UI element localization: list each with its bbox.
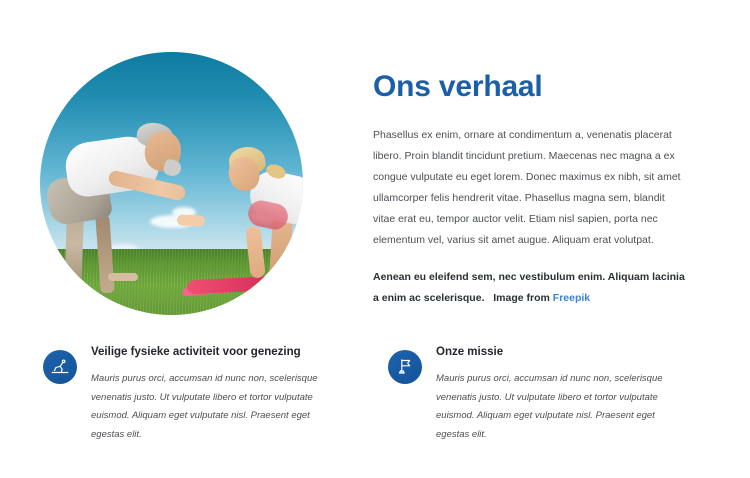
page-root: Ons verhaal Phasellus ex enim, ornare at… [0,0,750,478]
stretching-person-icon [43,350,77,384]
feature-text: Mauris purus orci, accumsan id nunc non,… [91,370,343,444]
hero-image [40,52,303,315]
hero-bold-paragraph: Aenean eu eleifend sem, nec vestibulum e… [373,267,685,309]
feature-body: Onze missie Mauris purus orci, accumsan … [436,340,688,460]
photo-illustration [40,52,303,315]
freepik-link[interactable]: Freepik [553,292,590,304]
feature-card: Onze missie Mauris purus orci, accumsan … [388,340,688,460]
page-title: Ons verhaal [373,70,685,103]
feature-card: Veilige fysieke activiteit voor genezing… [43,340,343,460]
feature-body: Veilige fysieke activiteit voor genezing… [91,340,343,460]
hero-section: Ons verhaal Phasellus ex enim, ornare at… [0,0,750,330]
hero-copy: Ons verhaal Phasellus ex enim, ornare at… [373,70,685,309]
man-foot [108,273,138,281]
image-credit-prefix: Image from [493,292,550,304]
flag-goal-icon [388,350,422,384]
feature-title: Veilige fysieke activiteit voor genezing [91,345,343,359]
features-section: Veilige fysieke activiteit voor genezing… [0,340,750,460]
hero-paragraph: Phasellus ex enim, ornare at condimentum… [373,125,685,251]
feature-text: Mauris purus orci, accumsan id nunc non,… [436,370,688,444]
feature-title: Onze missie [436,345,688,359]
man-hand [176,214,205,226]
